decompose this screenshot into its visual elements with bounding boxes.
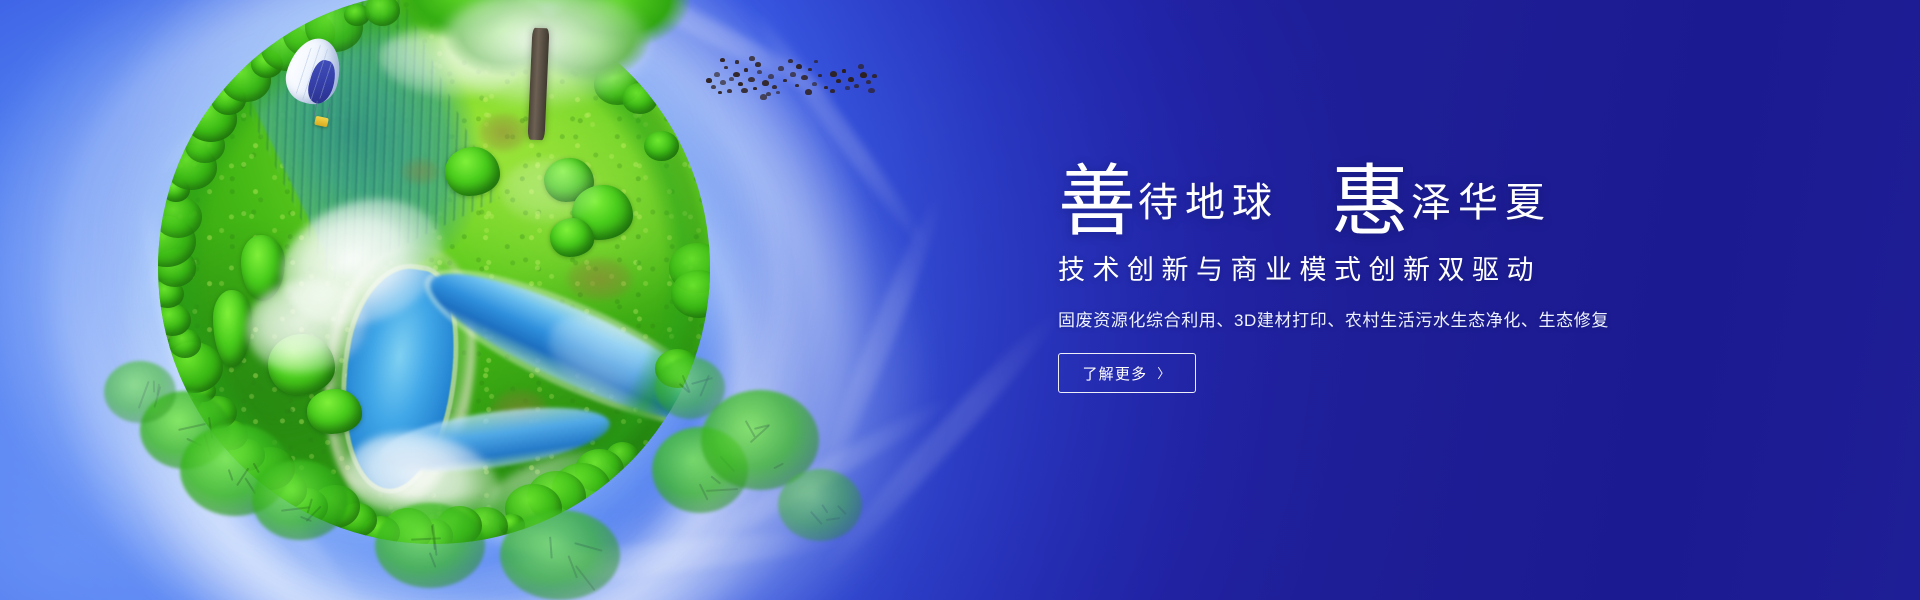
- bird-icon: [720, 58, 725, 62]
- bird-icon: [718, 91, 722, 94]
- bird-icon: [805, 89, 812, 95]
- bird-icon: [741, 88, 748, 93]
- bird-icon: [753, 87, 757, 90]
- bird-icon: [735, 60, 739, 64]
- bird-icon: [727, 89, 732, 93]
- bird-icon: [868, 88, 875, 93]
- bird-icon: [801, 75, 808, 80]
- bird-icon: [724, 66, 728, 69]
- bird-icon: [808, 68, 812, 71]
- bird-icon: [706, 78, 712, 83]
- bird-icon: [760, 94, 767, 100]
- bird-icon: [757, 70, 762, 74]
- bird-icon: [860, 72, 867, 78]
- bird-icon: [830, 89, 835, 93]
- hot-air-balloon-icon: [288, 38, 344, 134]
- chevron-right-icon: 〉: [1157, 363, 1171, 382]
- bird-icon: [848, 77, 854, 82]
- bird-icon: [836, 79, 841, 83]
- headline-daidiqiu: 待地球: [1138, 183, 1279, 223]
- bird-icon: [845, 86, 850, 90]
- headline-char-hui: 惠: [1331, 166, 1409, 238]
- bird-icon: [858, 64, 864, 69]
- bird-icon: [812, 82, 817, 86]
- bird-icon: [854, 84, 859, 88]
- bird-icon: [749, 56, 755, 61]
- bird-icon: [788, 59, 793, 63]
- balloon-basket: [314, 116, 329, 128]
- bird-icon: [814, 60, 818, 63]
- tiny-planet-globe: [158, 0, 710, 544]
- bird-icon: [738, 82, 743, 86]
- bird-icon: [778, 66, 784, 71]
- bird-icon: [818, 74, 822, 77]
- rim-foliage-bump: [491, 3, 527, 35]
- page-title: 善 待地球 惠 泽华夏: [1058, 140, 1758, 232]
- globe-sphere: [158, 0, 710, 544]
- rim-foliage-bump: [655, 349, 700, 388]
- page-description: 固废资源化综合利用、3D建材打印、农村生活污水生态净化、生态修复: [1058, 306, 1758, 331]
- learn-more-button[interactable]: 了解更多 〉: [1058, 353, 1196, 393]
- bird-icon: [795, 84, 799, 87]
- page-subtitle: 技术创新与商业模式创新双驱动: [1058, 248, 1758, 287]
- bird-icon: [714, 72, 720, 77]
- bird-icon: [772, 85, 777, 89]
- rim-foliage-bump: [562, 26, 605, 64]
- bird-icon: [711, 85, 716, 89]
- bird-icon: [790, 72, 796, 77]
- bird-icon: [776, 91, 780, 94]
- hero-banner: 善 待地球 惠 泽华夏 技术创新与商业模式创新双驱动 固废资源化综合利用、3D建…: [0, 0, 1920, 600]
- bird-icon: [748, 77, 755, 82]
- bird-icon: [866, 80, 871, 84]
- bird-icon: [768, 74, 774, 79]
- bird-icon: [830, 71, 837, 77]
- bird-icon: [733, 72, 740, 77]
- headline-char-shan: 善: [1058, 166, 1136, 238]
- bird-icon: [744, 68, 748, 72]
- bird-icon: [729, 77, 734, 81]
- bird-icon: [783, 79, 787, 82]
- bird-icon: [755, 62, 761, 67]
- bird-icon: [872, 74, 877, 78]
- bird-icon: [796, 64, 802, 69]
- bird-icon: [720, 80, 726, 85]
- bird-icon: [842, 69, 846, 73]
- bird-flock-icon: [700, 44, 880, 104]
- hero-copy-block: 善 待地球 惠 泽华夏 技术创新与商业模式创新双驱动 固废资源化综合利用、3D建…: [1058, 140, 1758, 393]
- headline-zehuaxia: 泽华夏: [1411, 183, 1552, 223]
- bird-icon: [824, 86, 828, 89]
- bird-icon: [762, 80, 769, 86]
- learn-more-label: 了解更多: [1082, 363, 1147, 384]
